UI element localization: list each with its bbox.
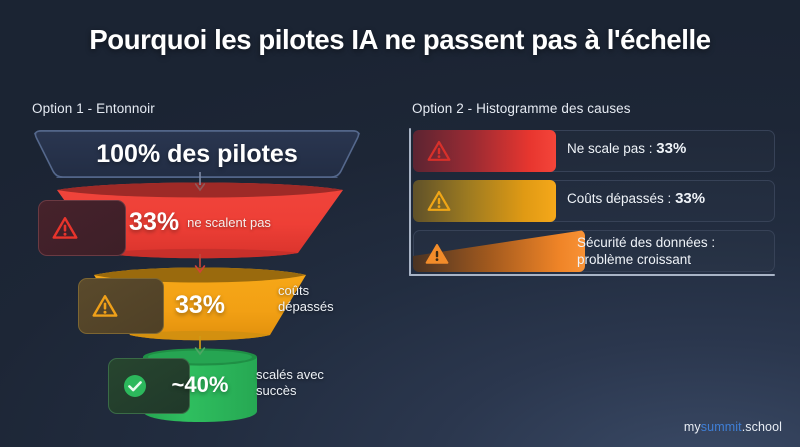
histogram-label-0: Ne scale pas : 33% (567, 140, 686, 158)
section-header-histogram: Option 2 - Histogramme des causes (412, 101, 631, 116)
arrow-down-icon (193, 254, 207, 274)
funnel-chart: 100% des pilotes 3 (0, 126, 400, 426)
funnel-stage-2-label-line1: coûts (278, 283, 334, 299)
x-axis-line (409, 274, 775, 276)
histogram-label-2: Sécurité des données : problème croissan… (577, 234, 715, 269)
check-circle-icon (122, 373, 148, 399)
page-title: Pourquoi les pilotes IA ne passent pas à… (0, 24, 800, 56)
histogram-label-1-value: 33% (675, 190, 705, 207)
funnel-stage-3-side-label: scalés avec succès (256, 367, 324, 399)
funnel-badge-green (108, 358, 190, 414)
arrow-down-icon (193, 336, 207, 356)
histogram-label-2-line2: problème croissant (577, 251, 715, 268)
funnel-stage-3-label-line2: succès (256, 383, 324, 399)
warning-triangle-icon (427, 190, 451, 212)
histogram-bar-0 (413, 130, 556, 172)
logo-mid: summit (701, 420, 742, 434)
histogram-chart: Ne scale pas : 33% Coûts dépassés : 33% (409, 128, 775, 276)
logo-prefix: my (684, 420, 701, 434)
funnel-badge-amber (78, 278, 164, 334)
funnel-stage-2-side-label: coûts dépassés (278, 283, 334, 315)
funnel-stage-0-shape (32, 130, 362, 178)
warning-triangle-icon (427, 140, 451, 162)
histogram-bar-1 (413, 180, 556, 222)
funnel-badge-red (38, 200, 126, 256)
histogram-label-0-value: 33% (656, 140, 686, 157)
y-axis-line (409, 128, 411, 276)
arrow-down-icon (193, 172, 207, 192)
warning-triangle-icon (425, 243, 449, 265)
funnel-stage-3-label-line1: scalés avec (256, 367, 324, 383)
brand-logo: mysummit.school (684, 420, 782, 434)
infographic-canvas: Pourquoi les pilotes IA ne passent pas à… (0, 0, 800, 447)
histogram-label-0-prefix: Ne scale pas : (567, 141, 656, 156)
warning-triangle-icon (92, 294, 118, 318)
histogram-label-1-prefix: Coûts dépassés : (567, 191, 675, 206)
warning-triangle-icon (52, 216, 78, 240)
histogram-label-2-line1: Sécurité des données : (577, 234, 715, 251)
funnel-stage-2-label-line2: dépassés (278, 299, 334, 315)
section-header-funnel: Option 1 - Entonnoir (32, 101, 155, 116)
histogram-label-1: Coûts dépassés : 33% (567, 190, 705, 208)
logo-suffix: .school (742, 420, 782, 434)
